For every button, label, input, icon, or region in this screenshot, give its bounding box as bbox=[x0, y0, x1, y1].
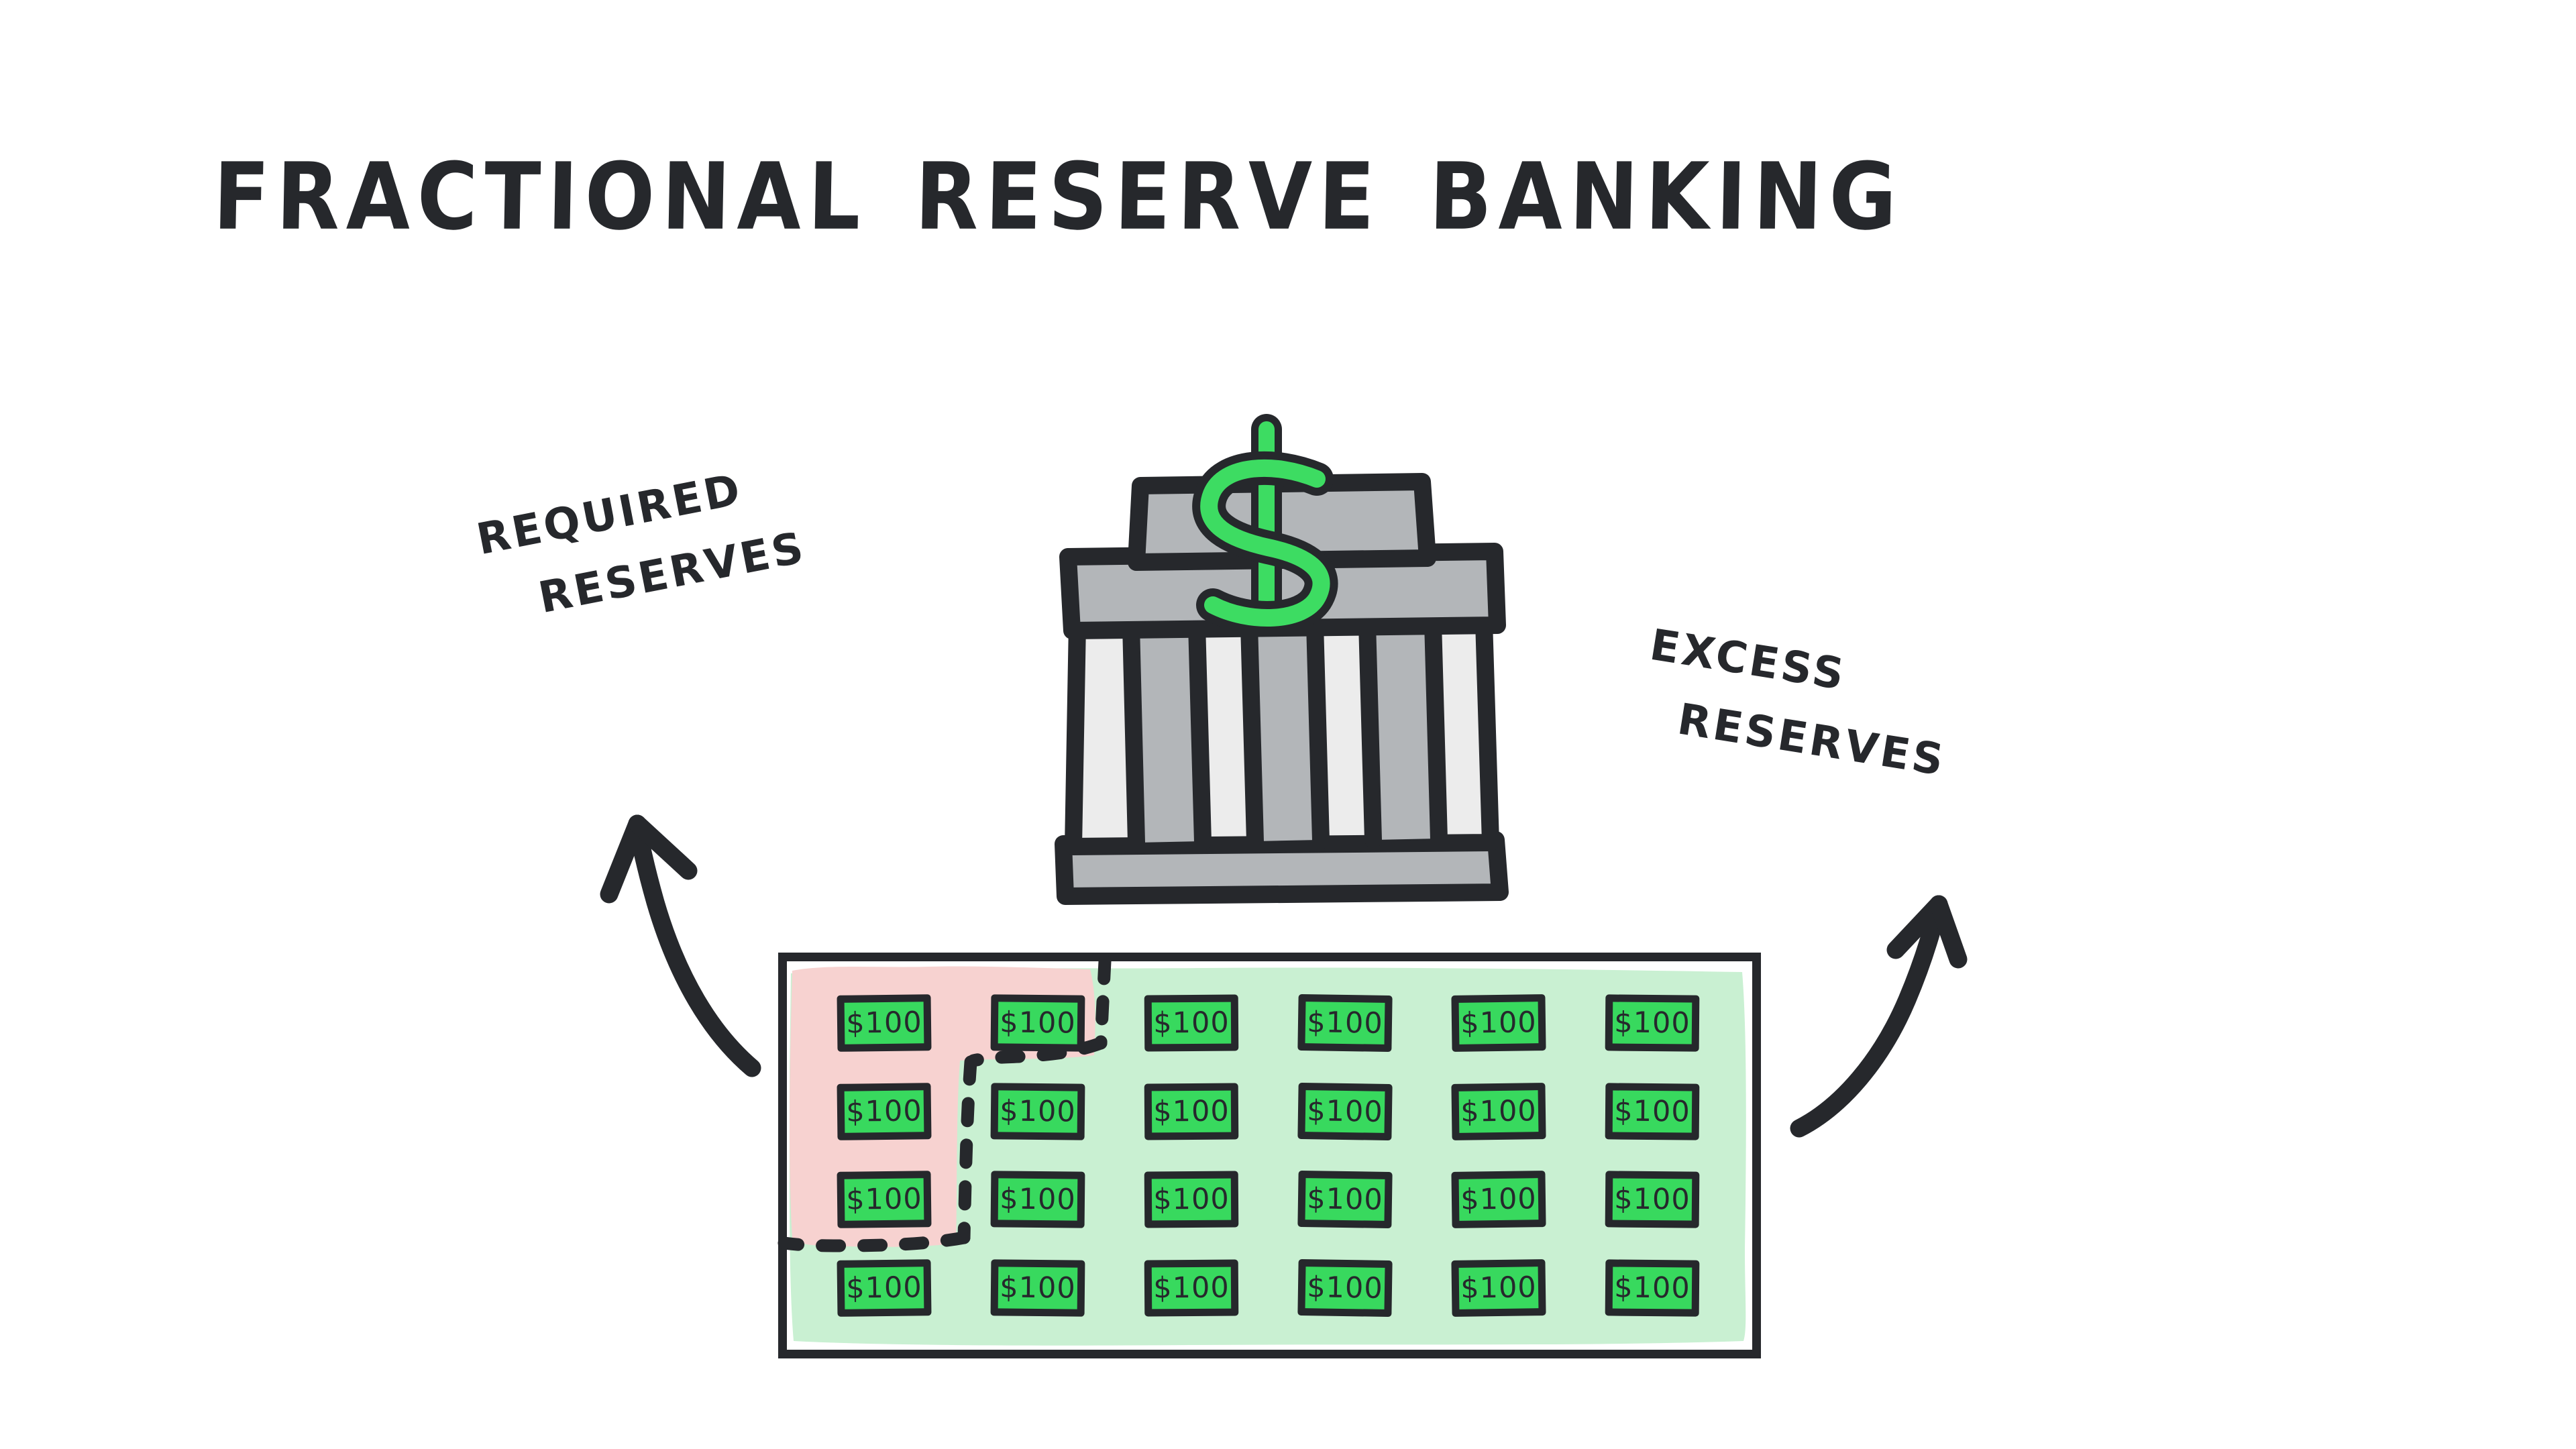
bill-100: $100 bbox=[1144, 1083, 1239, 1140]
money-cell: $100 bbox=[961, 1067, 1114, 1156]
bill-100: $100 bbox=[1452, 994, 1546, 1052]
bill-100: $100 bbox=[1452, 1083, 1546, 1140]
money-cell: $100 bbox=[807, 1156, 961, 1244]
bill-100: $100 bbox=[990, 1171, 1085, 1228]
bill-100: $100 bbox=[1297, 1083, 1392, 1140]
bill-100: $100 bbox=[837, 1083, 931, 1140]
money-cell: $100 bbox=[961, 1156, 1114, 1244]
bill-100: $100 bbox=[837, 1259, 931, 1317]
bill-100: $100 bbox=[1452, 1171, 1546, 1228]
bill-100: $100 bbox=[990, 1259, 1085, 1316]
money-cell: $100 bbox=[961, 979, 1114, 1067]
bill-100: $100 bbox=[1297, 994, 1392, 1052]
money-cell: $100 bbox=[1269, 1067, 1422, 1156]
money-cell: $100 bbox=[1114, 1244, 1268, 1332]
money-cell: $100 bbox=[1269, 1156, 1422, 1244]
money-cell: $100 bbox=[1114, 1067, 1268, 1156]
money-cell: $100 bbox=[1114, 1156, 1268, 1244]
bill-100: $100 bbox=[1605, 1171, 1700, 1228]
bill-100: $100 bbox=[1144, 1260, 1239, 1317]
bill-100: $100 bbox=[837, 994, 931, 1052]
money-cell: $100 bbox=[1422, 1244, 1576, 1332]
bill-100: $100 bbox=[990, 1083, 1085, 1140]
bill-100: $100 bbox=[1297, 1259, 1392, 1317]
money-cell: $100 bbox=[1269, 1244, 1422, 1332]
reserves-box: $100 $100 $100 $100 $100 $100 $100 $100 … bbox=[778, 953, 1761, 1358]
bill-100: $100 bbox=[1144, 1171, 1239, 1228]
bill-100: $100 bbox=[990, 994, 1085, 1051]
money-cell: $100 bbox=[807, 979, 961, 1067]
money-cell: $100 bbox=[1422, 979, 1576, 1067]
money-cell: $100 bbox=[807, 1067, 961, 1156]
money-grid: $100 $100 $100 $100 $100 $100 $100 $100 … bbox=[787, 961, 1752, 1350]
bank-building-icon bbox=[1063, 429, 1500, 896]
diagram-canvas: Fractional Reserve Banking Required Rese… bbox=[0, 0, 2576, 1449]
curved-arrow-up-left-icon bbox=[609, 824, 752, 1068]
money-cell: $100 bbox=[1269, 979, 1422, 1067]
money-cell: $100 bbox=[1114, 979, 1268, 1067]
money-cell: $100 bbox=[1422, 1067, 1576, 1156]
bill-100: $100 bbox=[837, 1171, 931, 1229]
bill-100: $100 bbox=[1144, 994, 1239, 1051]
bill-100: $100 bbox=[1605, 1083, 1700, 1140]
bill-100: $100 bbox=[1605, 994, 1700, 1051]
curved-arrow-up-right-icon bbox=[1799, 904, 1958, 1128]
money-cell: $100 bbox=[961, 1244, 1114, 1332]
bill-100: $100 bbox=[1452, 1259, 1546, 1317]
bill-100: $100 bbox=[1605, 1260, 1700, 1317]
money-cell: $100 bbox=[1576, 1067, 1729, 1156]
money-cell: $100 bbox=[1422, 1156, 1576, 1244]
money-cell: $100 bbox=[1576, 1156, 1729, 1244]
money-cell: $100 bbox=[1576, 1244, 1729, 1332]
bill-100: $100 bbox=[1297, 1171, 1392, 1228]
money-cell: $100 bbox=[807, 1244, 961, 1332]
money-cell: $100 bbox=[1576, 979, 1729, 1067]
